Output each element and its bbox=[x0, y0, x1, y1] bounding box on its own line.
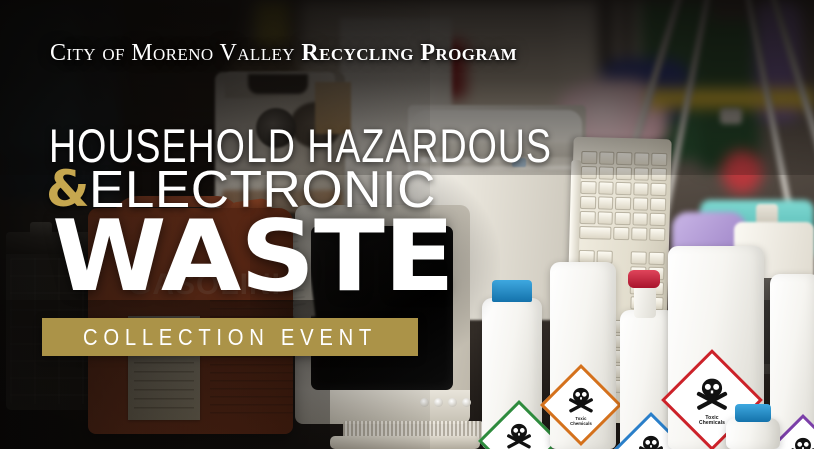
bottle-cap-blue bbox=[735, 404, 771, 422]
kicker-prefix: City of Moreno Valley bbox=[50, 40, 301, 66]
skull-crossbones-icon bbox=[788, 435, 814, 449]
bottle-cap-red bbox=[628, 270, 660, 288]
skull-crossbones-icon bbox=[566, 385, 596, 415]
skull-crossbones-icon bbox=[693, 375, 731, 413]
headline-line-3: WASTE bbox=[52, 208, 454, 306]
chemical-bottles: ToxicChemicals bbox=[470, 268, 814, 449]
skull-crossbones-icon bbox=[504, 421, 534, 449]
bottle-body bbox=[726, 418, 780, 449]
hazard-label-toxic: ToxicChemicals bbox=[490, 412, 548, 449]
recycling-event-banner: GASOLINE bbox=[0, 0, 814, 449]
collection-event-band: COLLECTION EVENT bbox=[42, 318, 418, 356]
hazard-label-toxic: ToxicChemicals bbox=[552, 376, 610, 434]
spray-bottle-neck bbox=[634, 284, 656, 318]
crt-button bbox=[448, 398, 457, 407]
hazard-caption: ToxicChemicals bbox=[570, 417, 592, 427]
crt-button bbox=[434, 398, 443, 407]
hazard-caption: ToxicChemicals bbox=[699, 416, 725, 428]
program-kicker: City of Moreno Valley Recycling Program bbox=[50, 40, 517, 67]
collection-event-label: COLLECTION EVENT bbox=[83, 324, 377, 351]
skull-crossbones-icon bbox=[636, 433, 666, 449]
chemical-bottle bbox=[726, 418, 780, 449]
kicker-bold: Recycling Program bbox=[301, 40, 517, 66]
hazard-label-toxic bbox=[774, 426, 814, 449]
